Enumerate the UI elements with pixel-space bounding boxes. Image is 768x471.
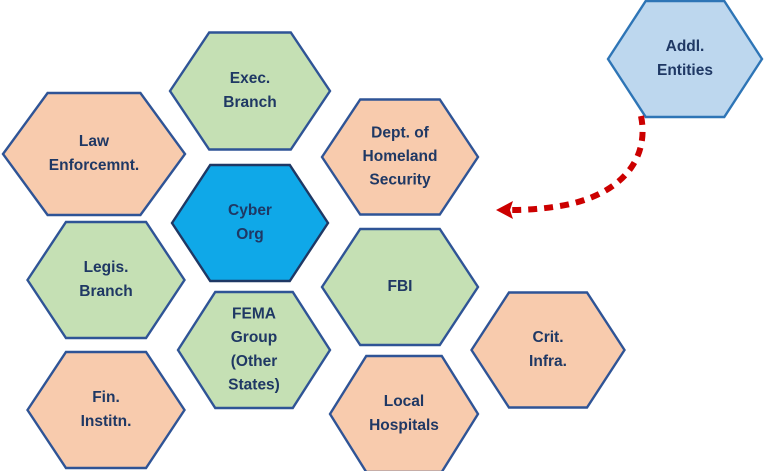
connector-line xyxy=(508,116,643,210)
hex-label-line: Entities xyxy=(657,62,713,79)
hex-label-line: Legis. xyxy=(84,259,129,276)
hex-label-line: Org xyxy=(236,226,264,243)
hex-label-line: Enforcemnt. xyxy=(49,157,139,174)
hex-node-addl-entities[interactable]: Addl.Entities xyxy=(608,1,762,117)
hex-label-line: Dept. of xyxy=(371,125,430,142)
hex-node-local-hospitals[interactable]: LocalHospitals xyxy=(330,356,478,471)
hex-node-legis-branch[interactable]: Legis.Branch xyxy=(28,222,185,338)
hex-label-line: FEMA xyxy=(232,306,276,323)
hex-shape-local-hospitals[interactable] xyxy=(330,356,478,471)
hex-label-line: Institn. xyxy=(81,413,132,430)
hex-label-line: FBI xyxy=(388,278,413,295)
hex-label-line: (Other xyxy=(231,353,278,370)
hex-label-line: Security xyxy=(369,172,431,189)
hex-label-line: Addl. xyxy=(666,38,705,55)
diagram-canvas: LawEnforcemnt.Exec.BranchDept. ofHomelan… xyxy=(0,0,768,471)
hex-label-line: Infra. xyxy=(529,353,567,370)
hex-node-dept-homeland-security[interactable]: Dept. ofHomelandSecurity xyxy=(322,100,478,215)
hex-node-exec-branch[interactable]: Exec.Branch xyxy=(170,33,330,150)
hex-label-line: Local xyxy=(384,393,424,410)
hex-label-line: States) xyxy=(228,376,280,393)
hex-label-line: Homeland xyxy=(363,148,438,165)
hex-label-line: Cyber xyxy=(228,202,272,219)
hex-label-line: Branch xyxy=(223,94,276,111)
connector-addl-entities-to-cluster xyxy=(496,116,643,219)
hex-shape-exec-branch[interactable] xyxy=(170,33,330,150)
hex-node-cyber-org[interactable]: CyberOrg xyxy=(172,165,328,281)
connector-arrowhead-icon xyxy=(496,201,513,219)
hex-shape-cyber-org[interactable] xyxy=(172,165,328,281)
hex-shape-addl-entities[interactable] xyxy=(608,1,762,117)
hex-label-dept-homeland-security: Dept. ofHomelandSecurity xyxy=(363,125,438,189)
hex-label-line: Exec. xyxy=(230,70,271,87)
hex-node-fbi[interactable]: FBI xyxy=(322,229,478,345)
hex-shape-crit-infra[interactable] xyxy=(472,293,625,408)
hex-node-crit-infra[interactable]: Crit.Infra. xyxy=(472,293,625,408)
hex-shape-legis-branch[interactable] xyxy=(28,222,185,338)
hex-node-law-enforcement[interactable]: LawEnforcemnt. xyxy=(3,93,185,215)
hex-shape-fin-institn[interactable] xyxy=(28,352,185,468)
hex-label-line: Fin. xyxy=(92,389,120,406)
hex-label-line: Crit. xyxy=(533,329,564,346)
hex-label-fbi: FBI xyxy=(388,278,413,295)
hex-label-line: Branch xyxy=(79,283,132,300)
hexagon-diagram: LawEnforcemnt.Exec.BranchDept. ofHomelan… xyxy=(0,0,768,471)
hex-node-fin-institn[interactable]: Fin.Institn. xyxy=(28,352,185,468)
hex-shape-law-enforcement[interactable] xyxy=(3,93,185,215)
hex-label-line: Group xyxy=(231,329,278,346)
hex-label-line: Law xyxy=(79,133,110,150)
hex-label-line: Hospitals xyxy=(369,417,439,434)
hex-node-fema-group[interactable]: FEMAGroup(OtherStates) xyxy=(178,292,330,408)
